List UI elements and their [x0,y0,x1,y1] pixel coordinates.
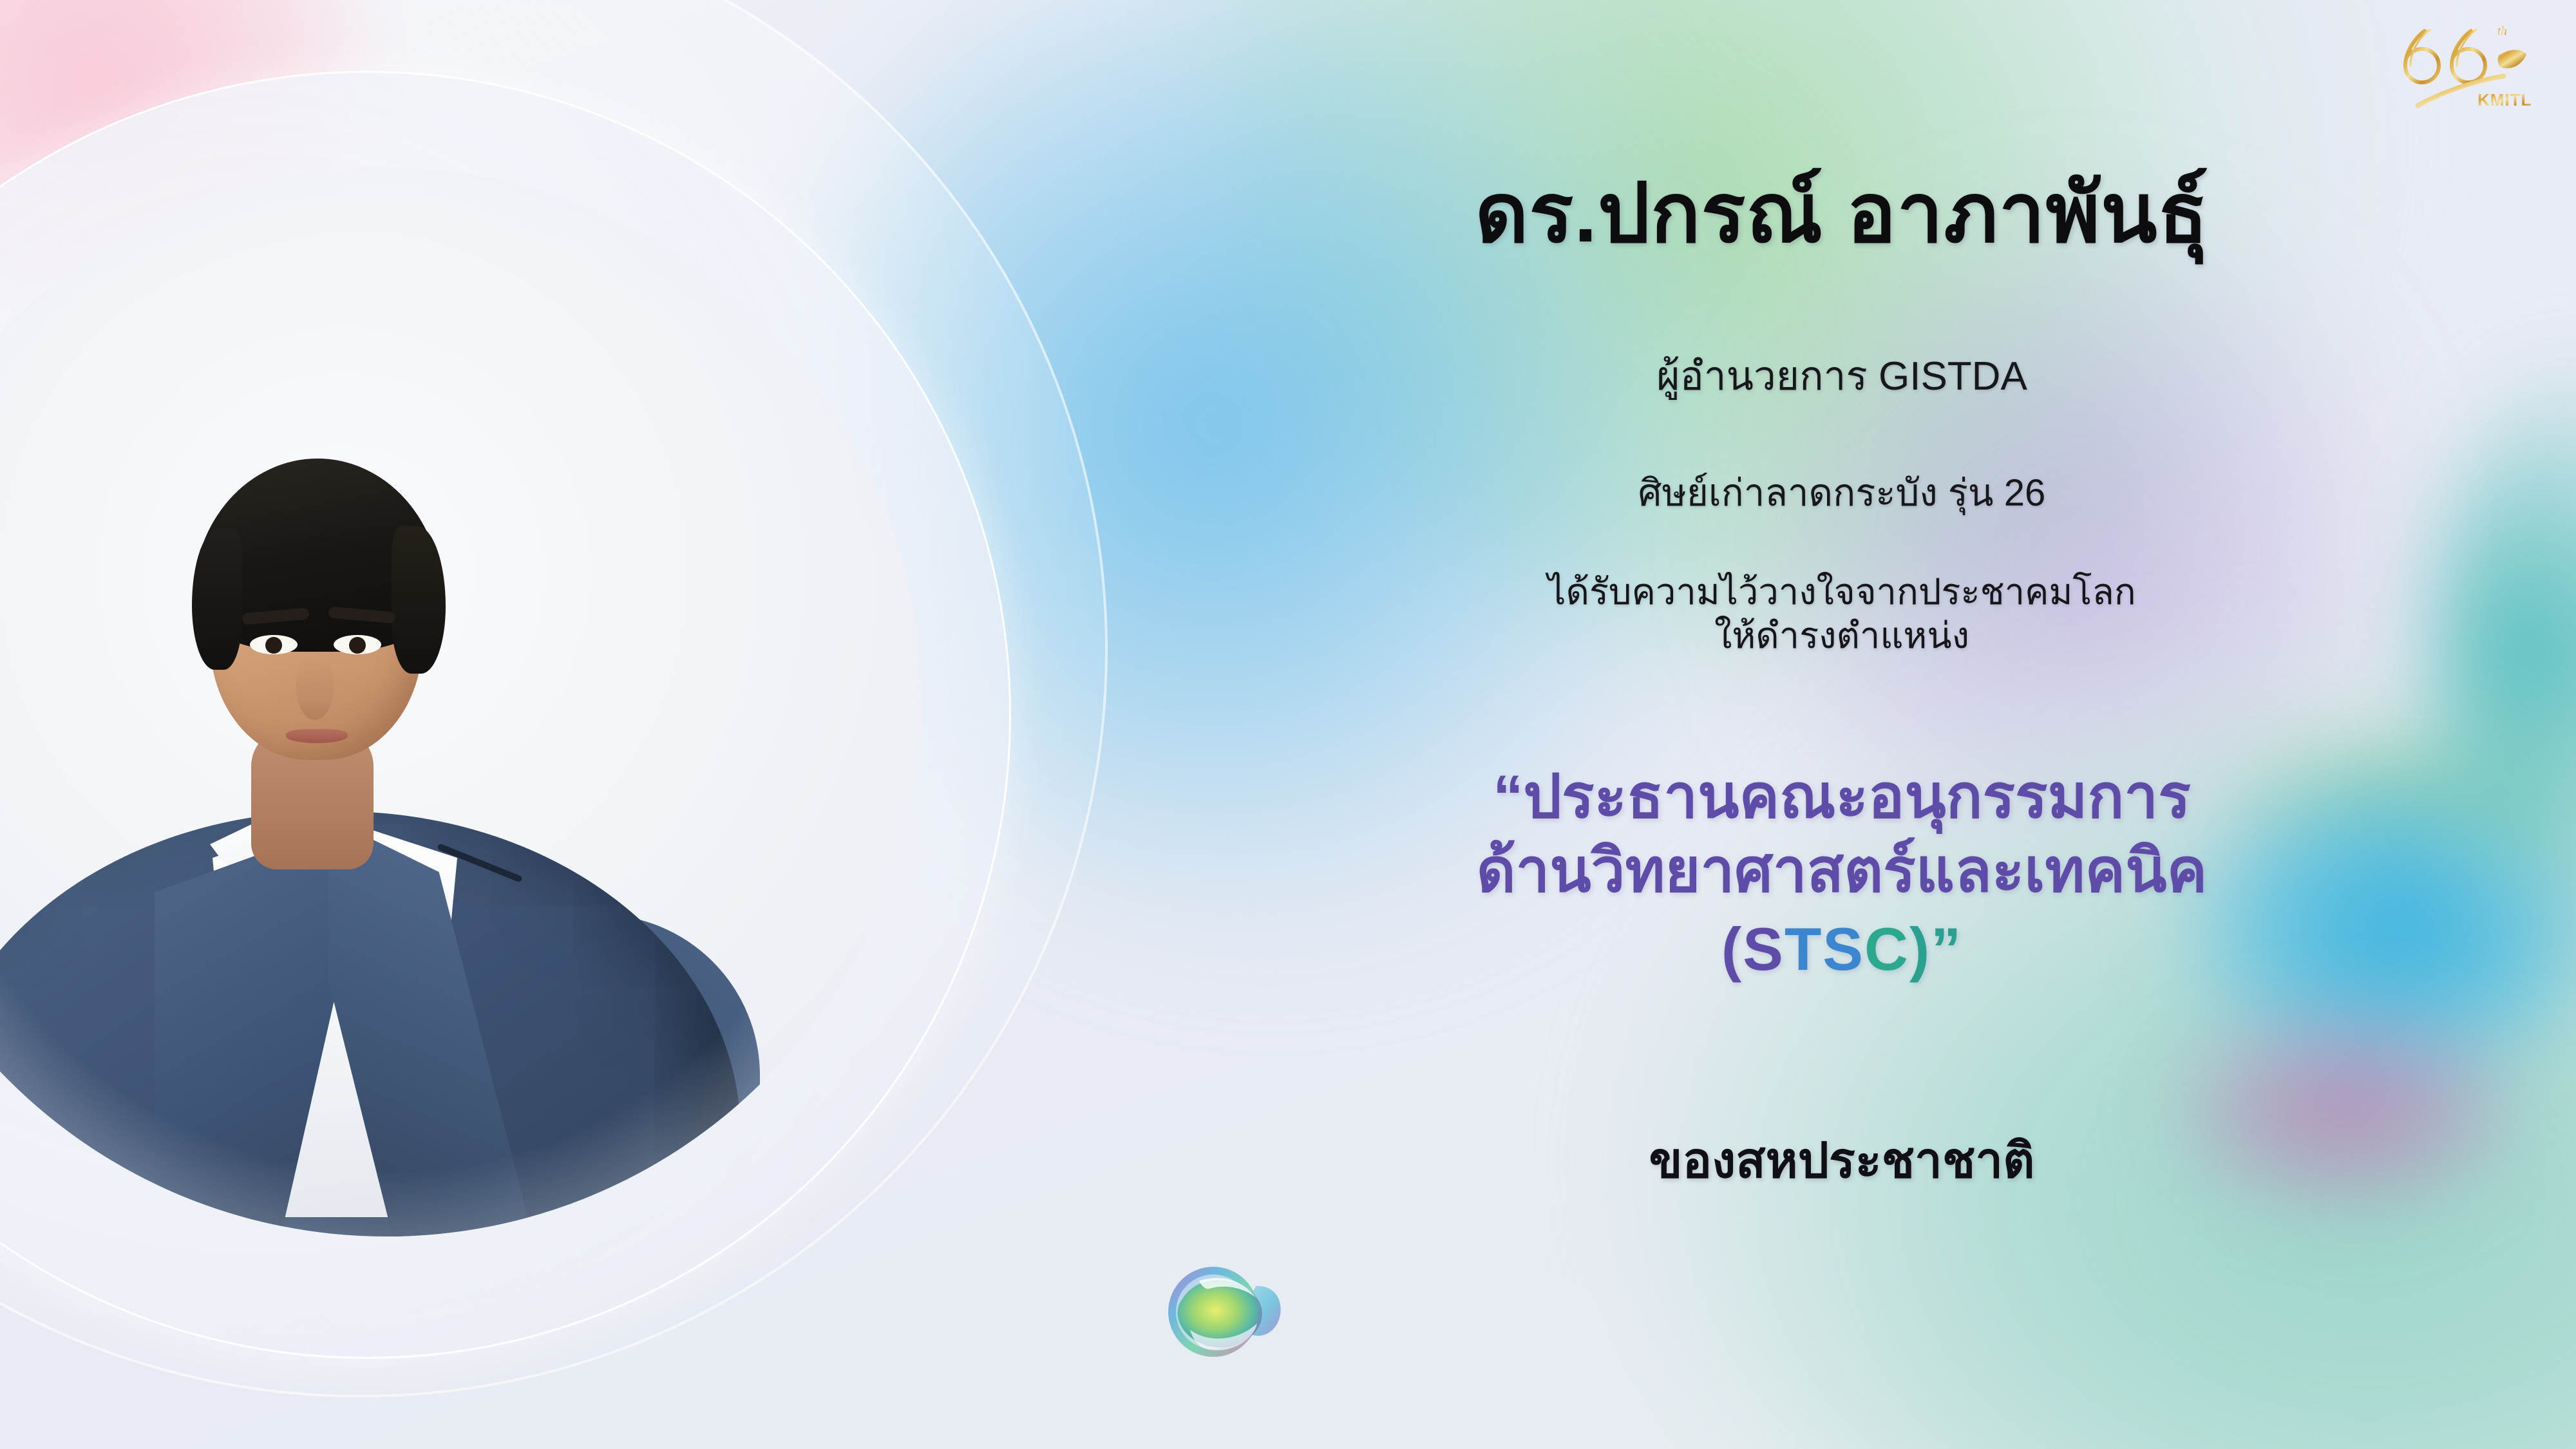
acronym-close-paren: ) [1909,915,1931,983]
headline-acronym: (STSC)” [1108,913,2576,987]
footer-line: ของสหประชาชาติ [1108,1122,2576,1199]
acronym-letter-s1: S [1743,915,1785,983]
lede-line-1: ได้รับความไว้วางใจจากประชาคมโลก [1548,571,2136,612]
text-column: ดร.ปกรณ์ อาภาพันธุ์ ผู้อำนวยการ GISTDA ศ… [1108,0,2576,1449]
page-title: ดร.ปกรณ์ อาภาพันธุ์ [1108,173,2576,255]
subtitle-alumni: ศิษย์เก่าลาดกระบัง รุ่น 26 [1108,462,2576,522]
subtitle-position: ผู้อำนวยการ GISTDA [1108,345,2576,408]
acronym-letter-s2: S [1823,915,1864,983]
poster-canvas: th KMITL ดร.ปกรณ์ อาภาพันธุ์ ผู้อำนวยการ… [0,0,2576,1449]
acronym-open-paren: ( [1721,915,1743,983]
lede-line-2: ให้ดำรงตำแหน่ง [1108,614,2576,658]
acronym-letter-c: C [1864,915,1909,983]
gistda-abstract-blob-logo [1159,1253,1288,1365]
headline-line-1: “ประธานคณะอนุกรรมการ [1108,760,2576,834]
headline-line-2: ด้านวิทยาศาสตร์และเทคนิค [1108,834,2576,908]
acronym-close-quote: ” [1931,915,1962,983]
portrait-vignette [0,167,921,1236]
portrait-photo [0,167,921,1236]
headline-block: “ประธานคณะอนุกรรมการ ด้านวิทยาศาสตร์และเ… [1108,760,2576,987]
lede-paragraph: ได้รับความไว้วางใจจากประชาคมโลก ให้ดำรงต… [1108,570,2576,658]
acronym-letter-t: T [1785,915,1823,983]
